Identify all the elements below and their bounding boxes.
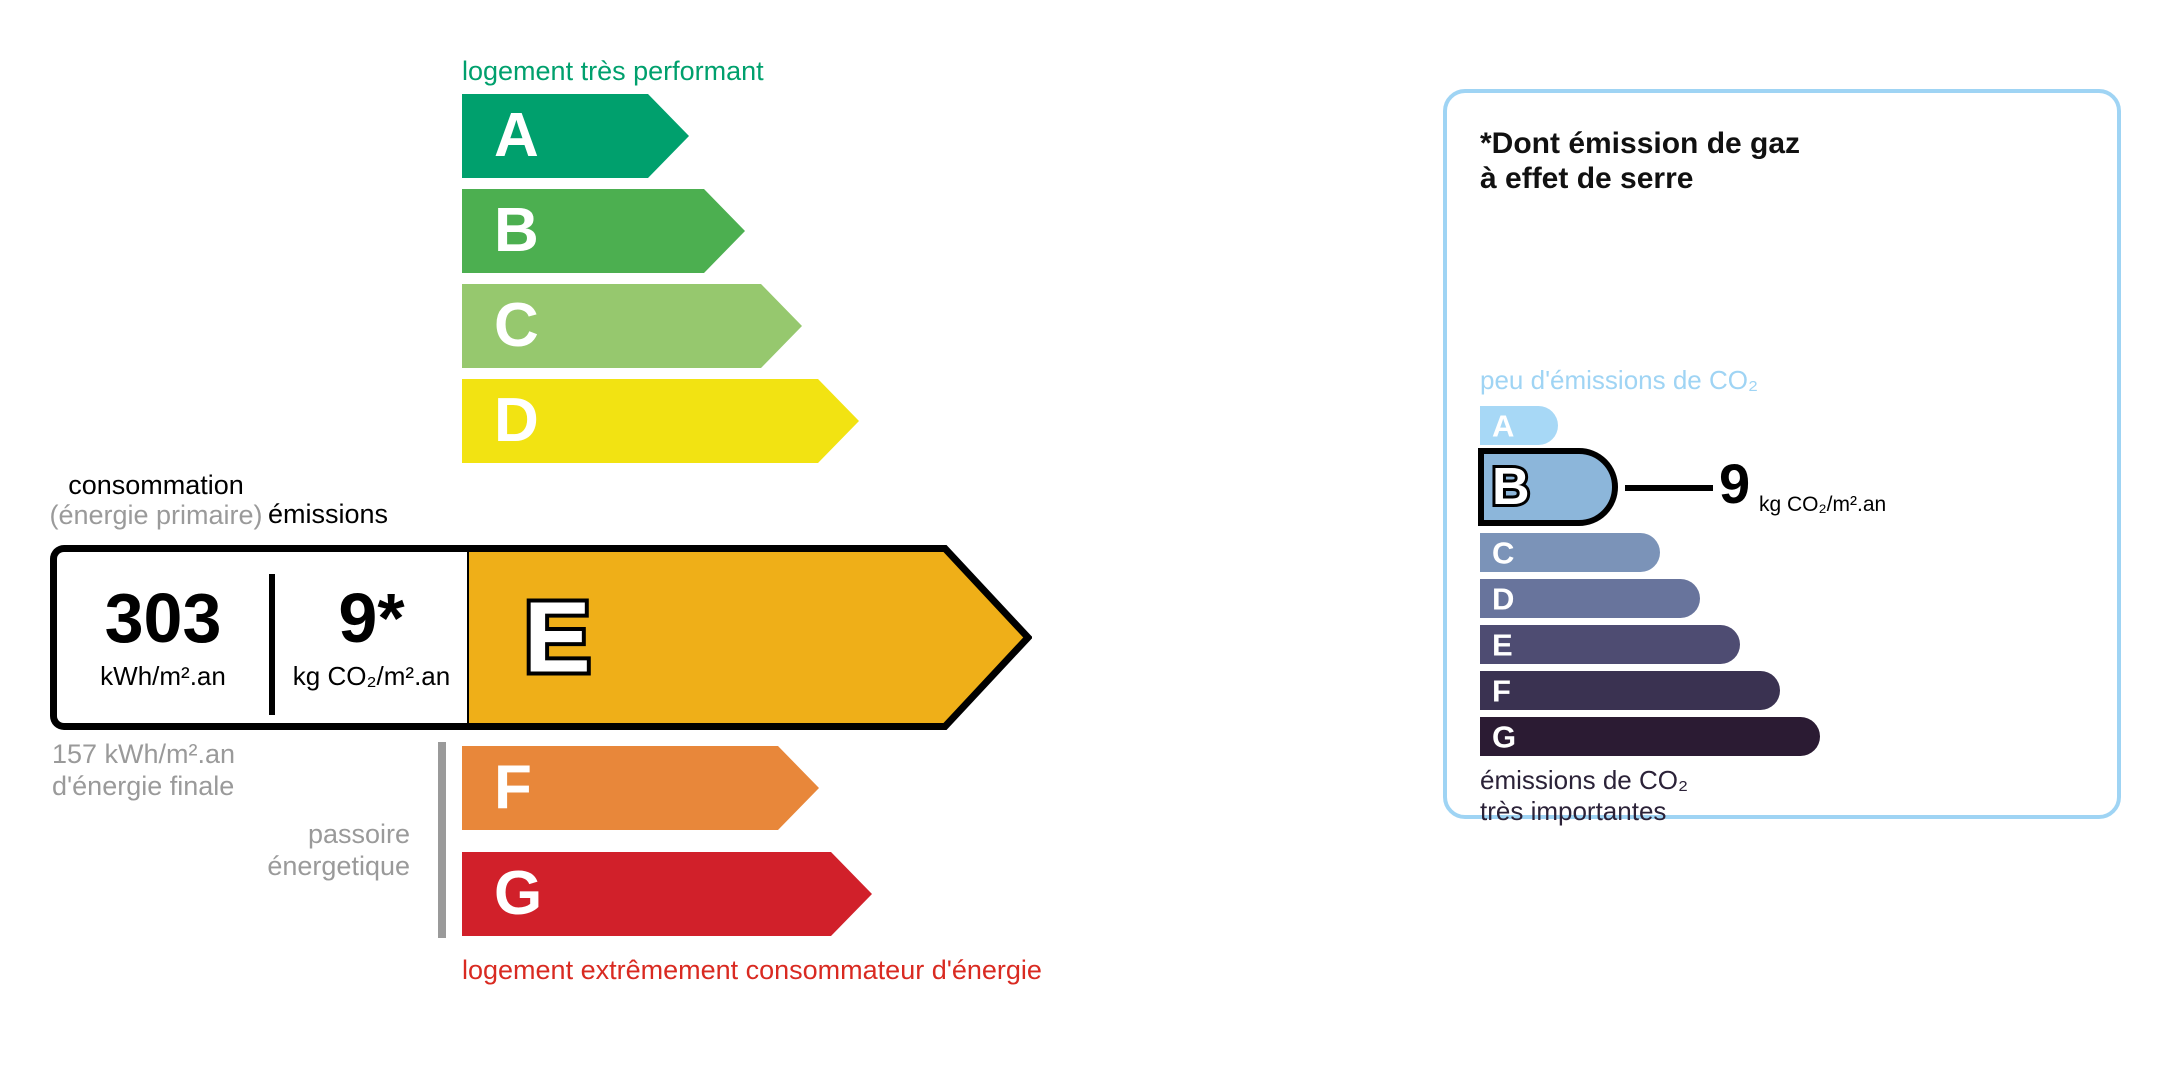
energy-bottom-caption: logement extrêmement consommateur d'éner… [462, 955, 1042, 986]
co2-value-unit: kg CO₂/m².an [1759, 493, 1886, 517]
co2-bar-a: A [1480, 406, 1558, 445]
consumption-unit: kWh/m².an [100, 661, 226, 692]
co2-bar-g: G [1480, 717, 1820, 756]
energy-bar-b: B [462, 189, 745, 273]
co2-bar-g-letter: G [1492, 721, 1516, 752]
consumption-header: consommation (énergie primaire) [46, 470, 266, 530]
energy-bar-a-letter: A [494, 105, 539, 167]
energy-bar-d: D [462, 379, 859, 463]
emissions-value: 9* [338, 583, 404, 653]
passoire-divider-rule [438, 742, 446, 938]
co2-bar-f-letter: F [1492, 675, 1511, 706]
consumption-header-main: consommation [68, 470, 244, 500]
co2-bar-a-letter: A [1492, 410, 1514, 441]
co2-bar-c-letter: C [1492, 537, 1514, 568]
consumption-header-sub: (énergie primaire) [46, 500, 266, 530]
co2-panel-title: *Dont émission de gaz à effet de serre [1480, 126, 1800, 197]
value-box: 303 kWh/m².an 9* kg CO₂/m².an [50, 545, 467, 730]
energy-bar-d-letter: D [494, 390, 539, 452]
co2-bar-e: E [1480, 625, 1740, 664]
co2-bar-c: C [1480, 533, 1660, 572]
co2-bar-d: D [1480, 579, 1700, 618]
emissions-value-cell: 9* kg CO₂/m².an [269, 552, 474, 723]
energy-top-caption: logement très performant [462, 56, 764, 87]
co2-emissions-panel: *Dont émission de gaz à effet de serre p… [1443, 89, 2121, 819]
co2-bar-b-letter: B [1492, 461, 1530, 513]
energy-bar-a: A [462, 94, 689, 178]
energy-performance-chart: logement très performant A B C D F G con… [0, 0, 1400, 1079]
co2-bar-b-highlighted: B [1478, 448, 1618, 526]
final-energy-note: 157 kWh/m².an d'énergie finale [52, 738, 235, 803]
energy-bar-g-letter: G [494, 863, 542, 925]
highlighted-rating-row: 303 kWh/m².an 9* kg CO₂/m².an E [50, 545, 1030, 730]
energy-bar-g: G [462, 852, 872, 936]
energy-bar-f-letter: F [494, 757, 532, 819]
consumption-value-cell: 303 kWh/m².an [57, 552, 269, 723]
co2-top-caption: peu d'émissions de CO₂ [1480, 365, 1758, 396]
energy-bar-e: E [462, 545, 1032, 730]
co2-bar-f: F [1480, 671, 1780, 710]
energy-bar-c: C [462, 284, 802, 368]
emissions-unit: kg CO₂/m².an [293, 661, 450, 692]
co2-value: 9 [1719, 456, 1750, 512]
passoire-note: passoire énergetique [140, 818, 410, 883]
consumption-value: 303 [105, 583, 222, 653]
emissions-header: émissions [268, 499, 388, 530]
co2-bar-d-letter: D [1492, 583, 1514, 614]
energy-bar-c-letter: C [494, 295, 539, 357]
co2-leader-line [1625, 485, 1713, 491]
value-box-divider [269, 574, 275, 715]
co2-bar-e-letter: E [1492, 629, 1513, 660]
energy-bar-e-letter: E [524, 582, 591, 694]
energy-bar-f: F [462, 746, 819, 830]
energy-bar-b-letter: B [494, 200, 539, 262]
co2-bottom-caption: émissions de CO₂ très importantes [1480, 765, 1688, 827]
